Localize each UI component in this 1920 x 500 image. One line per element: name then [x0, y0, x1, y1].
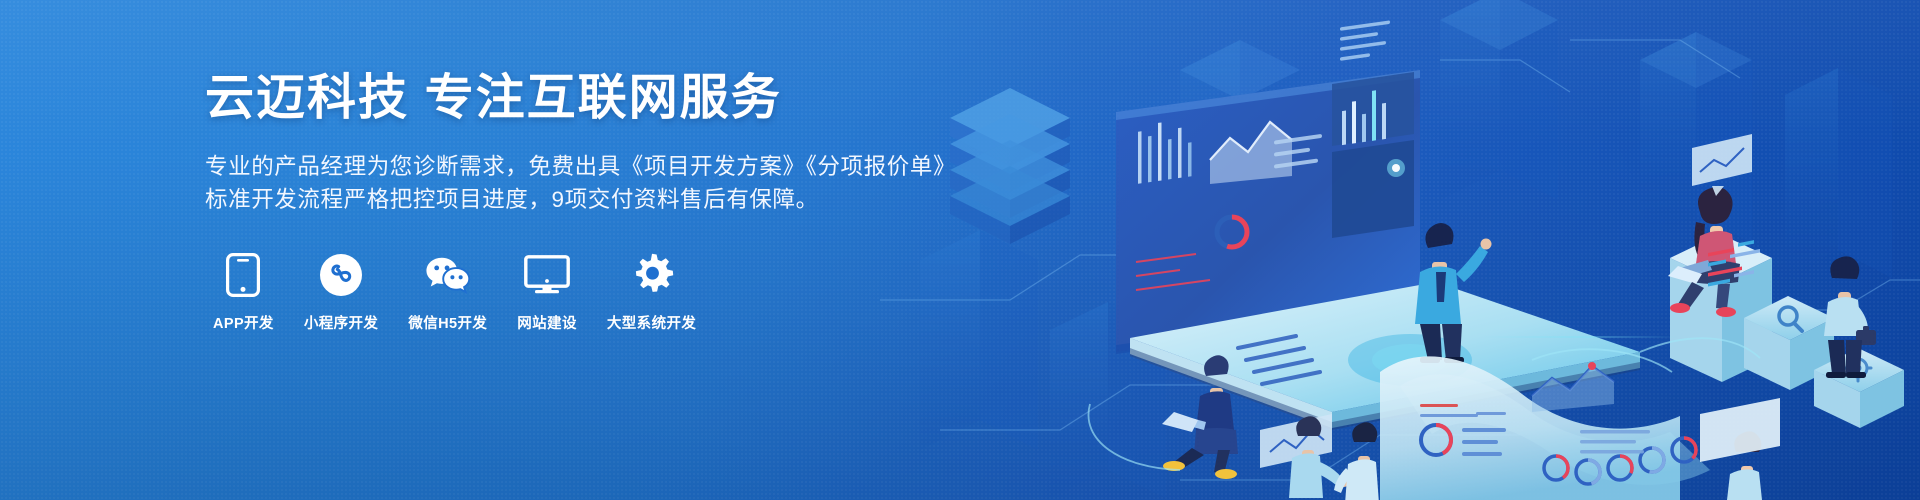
wechat-icon — [425, 252, 471, 298]
subtitle-line-1: 专业的产品经理为您诊断需求，免费出具《项目开发方案》《分项报价单》 — [205, 150, 925, 183]
illustration-isometric-dashboard — [880, 0, 1920, 500]
service-item-mini-program[interactable]: 小程序开发 — [304, 252, 379, 333]
service-item-app[interactable]: APP开发 — [213, 252, 274, 333]
mobile-phone-icon — [220, 252, 266, 298]
monitor-icon — [524, 252, 570, 298]
service-item-enterprise-system[interactable]: 大型系统开发 — [607, 252, 696, 333]
service-item-wechat-h5[interactable]: 微信H5开发 — [408, 252, 487, 333]
banner-content: 云迈科技 专注互联网服务 专业的产品经理为您诊断需求，免费出具《项目开发方案》《… — [205, 70, 925, 333]
server-stack-graphic — [950, 88, 1070, 244]
page-title: 云迈科技 专注互联网服务 — [205, 70, 925, 126]
gear-icon — [629, 252, 675, 298]
service-list: APP开发 小程序开发 — [213, 252, 925, 333]
mini-program-icon — [318, 252, 364, 298]
subtitle-line-2: 标准开发流程严格把控项目进度，9项交付资料售后有保障。 — [205, 183, 925, 216]
service-label-website: 网站建设 — [517, 312, 577, 333]
service-label-enterprise-system: 大型系统开发 — [607, 312, 696, 333]
service-label-app: APP开发 — [213, 312, 274, 333]
promo-banner: 云迈科技 专注互联网服务 专业的产品经理为您诊断需求，免费出具《项目开发方案》《… — [0, 0, 1920, 500]
service-item-website[interactable]: 网站建设 — [517, 252, 577, 333]
service-label-mini-program: 小程序开发 — [304, 312, 379, 333]
banner-subtitle: 专业的产品经理为您诊断需求，免费出具《项目开发方案》《分项报价单》 标准开发流程… — [205, 150, 925, 216]
service-label-wechat-h5: 微信H5开发 — [408, 312, 487, 333]
